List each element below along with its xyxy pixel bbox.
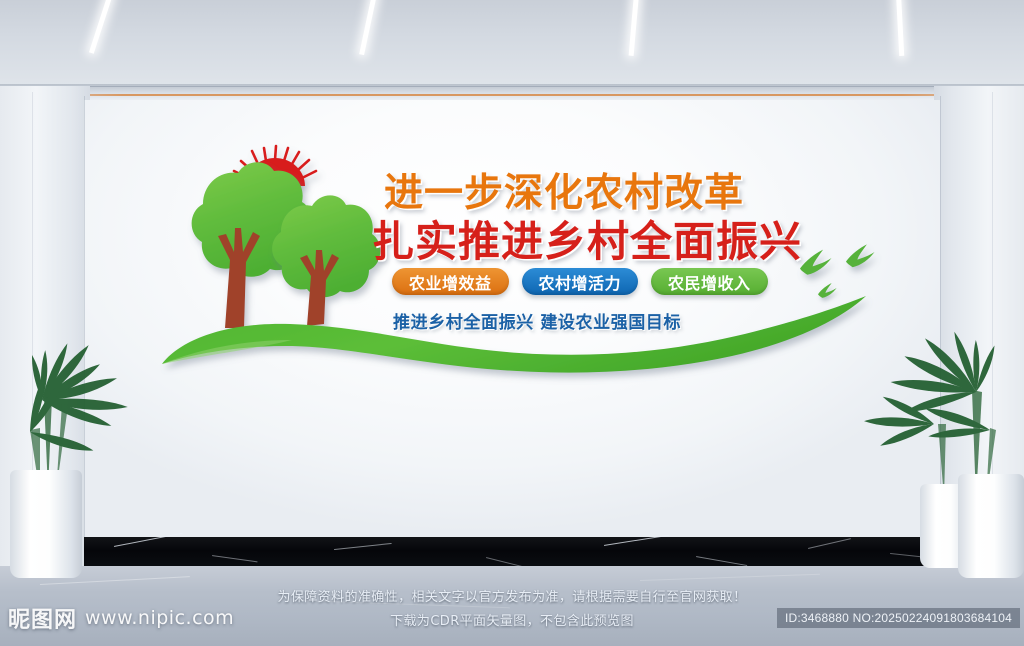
slogan-pill-rural-vitality: 农村增活力: [522, 268, 639, 295]
slogan-pill-row: 农业增效益 农村增活力 农民增收入: [392, 268, 768, 295]
slogan-pill-farmer-income: 农民增收入: [651, 268, 768, 295]
tree-icon: [272, 195, 380, 326]
headline-secondary: 扎实推进乡村全面振兴: [372, 208, 802, 269]
watermark-brand-cn: 昵图网: [8, 602, 77, 634]
birds-icon: [800, 244, 875, 298]
asset-id-badge: ID:3468880 NO:20250224091803684104: [777, 608, 1020, 628]
mural-subtitle: 推进乡村全面振兴 建设农业强国目标: [393, 308, 681, 333]
slogan-pill-agriculture-efficiency: 农业增效益: [392, 268, 509, 295]
watermark: 昵图网 www.nipic.com: [8, 602, 234, 634]
wall-mural-artwork: 进一步深化农村改革 扎实推进乡村全面振兴 农业增效益 农村增活力 农民增收入 推…: [140, 140, 900, 390]
screenshot-root: 进一步深化农村改革 扎实推进乡村全面振兴 农业增效益 农村增活力 农民增收入 推…: [0, 0, 1024, 646]
watermark-brand-url: www.nipic.com: [85, 607, 234, 629]
plant-pot-right-front: [958, 474, 1024, 578]
